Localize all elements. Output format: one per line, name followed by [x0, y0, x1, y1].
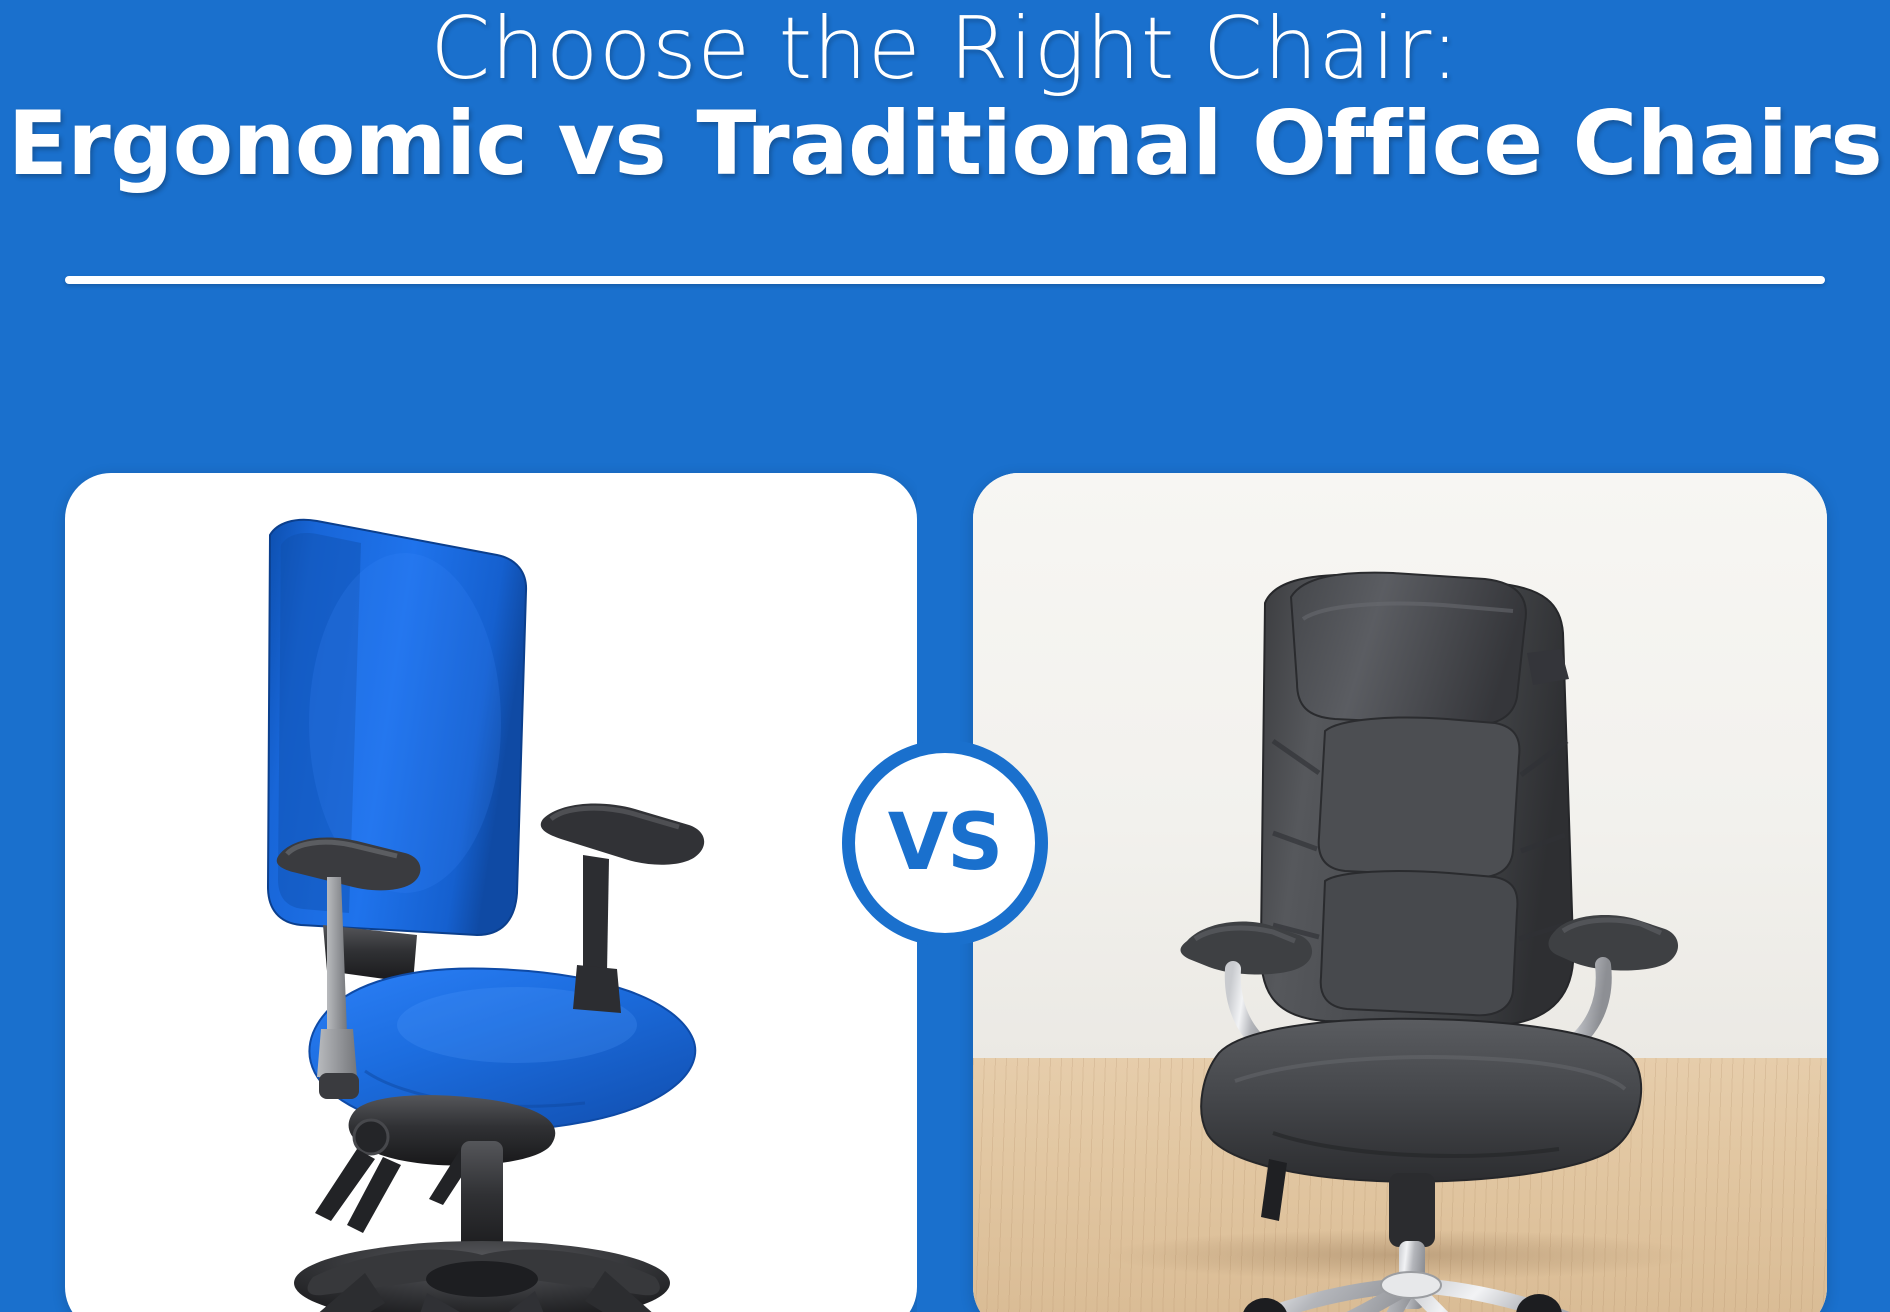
headrest-cushion — [1291, 573, 1526, 726]
base-hub — [1381, 1272, 1441, 1298]
ergonomic-chair-image — [65, 473, 917, 1312]
height-adjust-lever — [1261, 1159, 1287, 1221]
lower-back-cushion — [1321, 871, 1518, 1015]
traditional-chair-image — [973, 473, 1827, 1312]
chair-base-five-star — [251, 1241, 715, 1312]
infographic-root: Choose the Right Chair: Ergonomic vs Tra… — [0, 0, 1890, 1312]
comparison-cards: VS — [0, 0, 1890, 1312]
traditional-chair-card[interactable] — [973, 473, 1827, 1312]
versus-label: VS — [888, 804, 1003, 882]
ergonomic-chair-card[interactable] — [65, 473, 917, 1312]
upper-back-cushion — [1319, 718, 1520, 878]
traditional-chair-illustration — [973, 473, 1827, 1312]
ergonomic-chair-illustration — [65, 473, 917, 1312]
versus-badge: VS — [842, 740, 1048, 946]
seat-mechanism — [315, 1095, 555, 1233]
